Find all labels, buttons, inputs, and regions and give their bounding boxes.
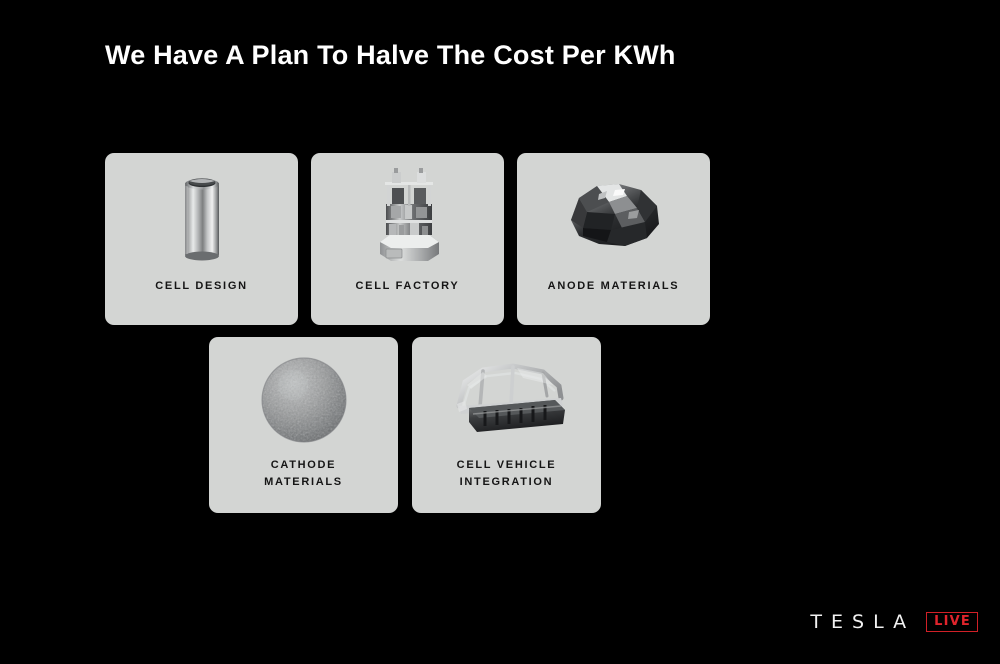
card-label: CELL DESIGN xyxy=(155,278,247,295)
card-row-top: CELL DESIGN xyxy=(105,153,710,325)
card-art-anode-materials xyxy=(517,153,710,278)
card-art-cell-factory xyxy=(311,153,504,278)
tesla-live-logo: TESLA LIVE xyxy=(808,611,978,633)
card-art-cathode-materials xyxy=(209,337,398,457)
card-cell-vehicle-integration[interactable]: CELL VEHICLE INTEGRATION xyxy=(412,337,601,513)
live-badge: LIVE xyxy=(926,612,978,632)
card-cell-factory[interactable]: CELL FACTORY xyxy=(311,153,504,325)
card-label: CELL VEHICLE INTEGRATION xyxy=(457,457,557,491)
card-art-cell-design xyxy=(105,153,298,278)
card-cathode-materials[interactable]: CATHODE MATERIALS xyxy=(209,337,398,513)
battery-cell-cylinder-icon xyxy=(173,170,231,266)
vehicle-chassis-pack-icon xyxy=(443,354,571,446)
card-art-cell-vehicle-integration xyxy=(412,337,601,457)
tesla-wordmark: TESLA xyxy=(808,611,915,633)
card-label: CATHODE MATERIALS xyxy=(264,457,343,491)
card-cell-design[interactable]: CELL DESIGN xyxy=(105,153,298,325)
card-label: ANODE MATERIALS xyxy=(548,278,680,295)
card-row-bottom: CATHODE MATERIALS xyxy=(209,337,601,513)
silicon-rock-icon xyxy=(553,176,675,260)
cathode-particle-sphere-icon xyxy=(258,354,350,446)
card-label: CELL FACTORY xyxy=(356,278,460,295)
page-title: We Have A Plan To Halve The Cost Per KWh xyxy=(105,41,676,71)
factory-machine-icon xyxy=(358,168,458,268)
card-anode-materials[interactable]: ANODE MATERIALS xyxy=(517,153,710,325)
presentation-slide: We Have A Plan To Halve The Cost Per KWh xyxy=(0,0,1000,664)
